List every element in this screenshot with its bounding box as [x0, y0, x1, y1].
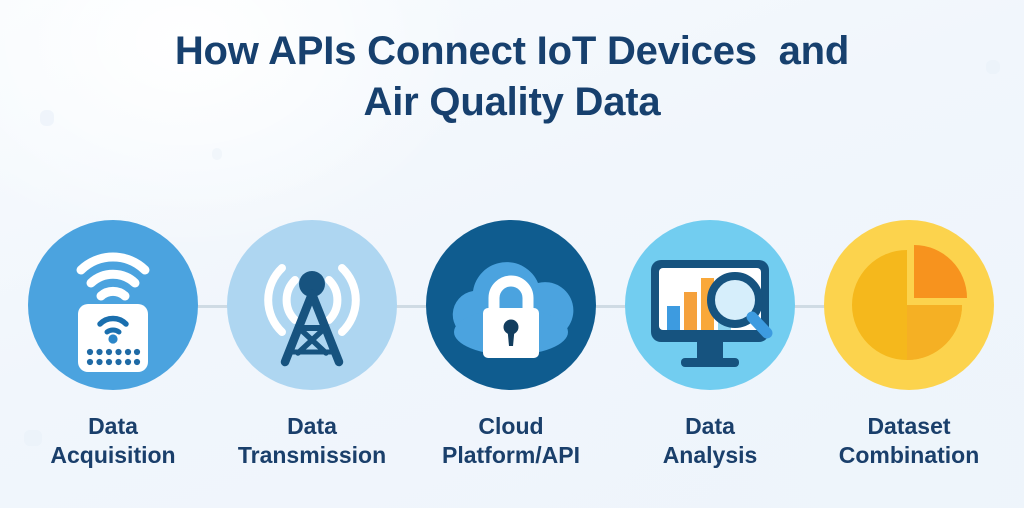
infographic-canvas: How APIs Connect IoT Devices and Air Qua… [0, 0, 1024, 508]
process-flow: Data Acquisition [0, 208, 1024, 508]
step-3-icon-circle[interactable] [426, 220, 596, 390]
step-5-icon-circle[interactable] [824, 220, 994, 390]
step-2-icon-circle[interactable] [227, 220, 397, 390]
background-speck [212, 148, 222, 160]
monitor-bar-chart-magnifier-icon [625, 220, 795, 390]
flow-step-cloud-platform-api[interactable]: Cloud Platform/API [411, 208, 611, 471]
cloud-lock-icon [426, 220, 596, 390]
step-2-label: Data Transmission [212, 412, 412, 471]
step-3-label: Cloud Platform/API [411, 412, 611, 471]
flow-step-data-transmission[interactable]: Data Transmission [212, 208, 412, 471]
page-title: How APIs Connect IoT Devices and Air Qua… [0, 26, 1024, 128]
flow-step-dataset-combination[interactable]: Dataset Combination [809, 208, 1009, 471]
flow-step-data-analysis[interactable]: Data Analysis [610, 208, 810, 471]
step-4-icon-circle[interactable] [625, 220, 795, 390]
step-5-label: Dataset Combination [809, 412, 1009, 471]
page-title-line-2: Air Quality Data [0, 77, 1024, 128]
iot-sensor-wifi-icon [28, 220, 198, 390]
pie-chart-icon [824, 220, 994, 390]
flow-step-data-acquisition[interactable]: Data Acquisition [13, 208, 213, 471]
step-1-label: Data Acquisition [13, 412, 213, 471]
step-1-icon-circle[interactable] [28, 220, 198, 390]
radio-tower-icon [227, 220, 397, 390]
step-4-label: Data Analysis [610, 412, 810, 471]
page-title-line-1: How APIs Connect IoT Devices and [0, 26, 1024, 77]
